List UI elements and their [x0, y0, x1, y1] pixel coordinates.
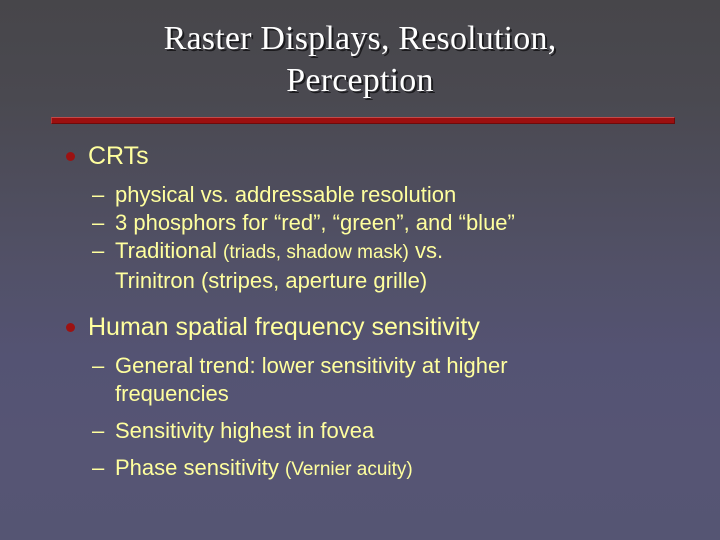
bullet-level2-parenthetical: (triads, shadow mask): [223, 242, 409, 263]
bullet-level2-label: Traditional: [115, 238, 223, 263]
bullet-level2-wrap-parenthetical: (stripes, aperture grille): [201, 268, 427, 293]
bullet-level1-label: Human spatial frequency sensitivity: [88, 313, 480, 341]
slide-title: Raster Displays, Resolution, Perception: [0, 18, 720, 102]
bullet-level2-label: General trend: lower sensitivity at high…: [115, 353, 508, 378]
dash-marker-icon: –: [92, 181, 108, 209]
bullet-level2-wrap: frequencies: [0, 380, 720, 408]
bullet-level2-label: Phase sensitivity: [115, 455, 285, 480]
dash-marker-icon: –: [92, 454, 108, 482]
bullet-level2-wrap-label: frequencies: [115, 381, 229, 406]
bullet-level2-label: Sensitivity highest in fovea: [115, 418, 374, 443]
slide-body: CRTs – physical vs. addressable resoluti…: [0, 136, 720, 536]
title-divider-rule: [50, 115, 676, 125]
bullet-level2: – Phase sensitivity (Vernier acuity): [0, 454, 720, 484]
bullet-dot-icon: [66, 323, 75, 332]
bullet-level2-parenthetical: (Vernier acuity): [285, 459, 413, 480]
dash-marker-icon: –: [92, 237, 108, 265]
bullet-level2-wrap: Trinitron (stripes, aperture grille): [0, 267, 720, 295]
bullet-level2-label-tail: vs.: [409, 238, 443, 263]
bullet-level2-wrap-label: Trinitron: [115, 268, 201, 293]
bullet-level1-label: CRTs: [88, 142, 149, 170]
bullet-level2: – General trend: lower sensitivity at hi…: [0, 352, 720, 380]
bullet-level2-label: physical vs. addressable resolution: [115, 182, 456, 207]
bullet-level2-label: 3 phosphors for “red”, “green”, and “blu…: [115, 210, 515, 235]
bullet-level2: – physical vs. addressable resolution: [0, 181, 720, 209]
bullet-level1: CRTs: [0, 140, 720, 172]
presentation-slide: Raster Displays, Resolution, Perception …: [0, 0, 720, 540]
bullet-level2: – Traditional (triads, shadow mask) vs.: [0, 237, 720, 267]
dash-marker-icon: –: [92, 209, 108, 237]
slide-title-line-2: Perception: [0, 60, 720, 102]
bullet-level2: – Sensitivity highest in fovea: [0, 417, 720, 445]
bullet-level2: – 3 phosphors for “red”, “green”, and “b…: [0, 209, 720, 237]
bullet-level1: Human spatial frequency sensitivity: [0, 311, 720, 343]
dash-marker-icon: –: [92, 352, 108, 380]
slide-title-line-1: Raster Displays, Resolution,: [0, 18, 720, 60]
bullet-dot-icon: [66, 152, 75, 161]
title-divider-bar: [51, 117, 675, 124]
dash-marker-icon: –: [92, 417, 108, 445]
